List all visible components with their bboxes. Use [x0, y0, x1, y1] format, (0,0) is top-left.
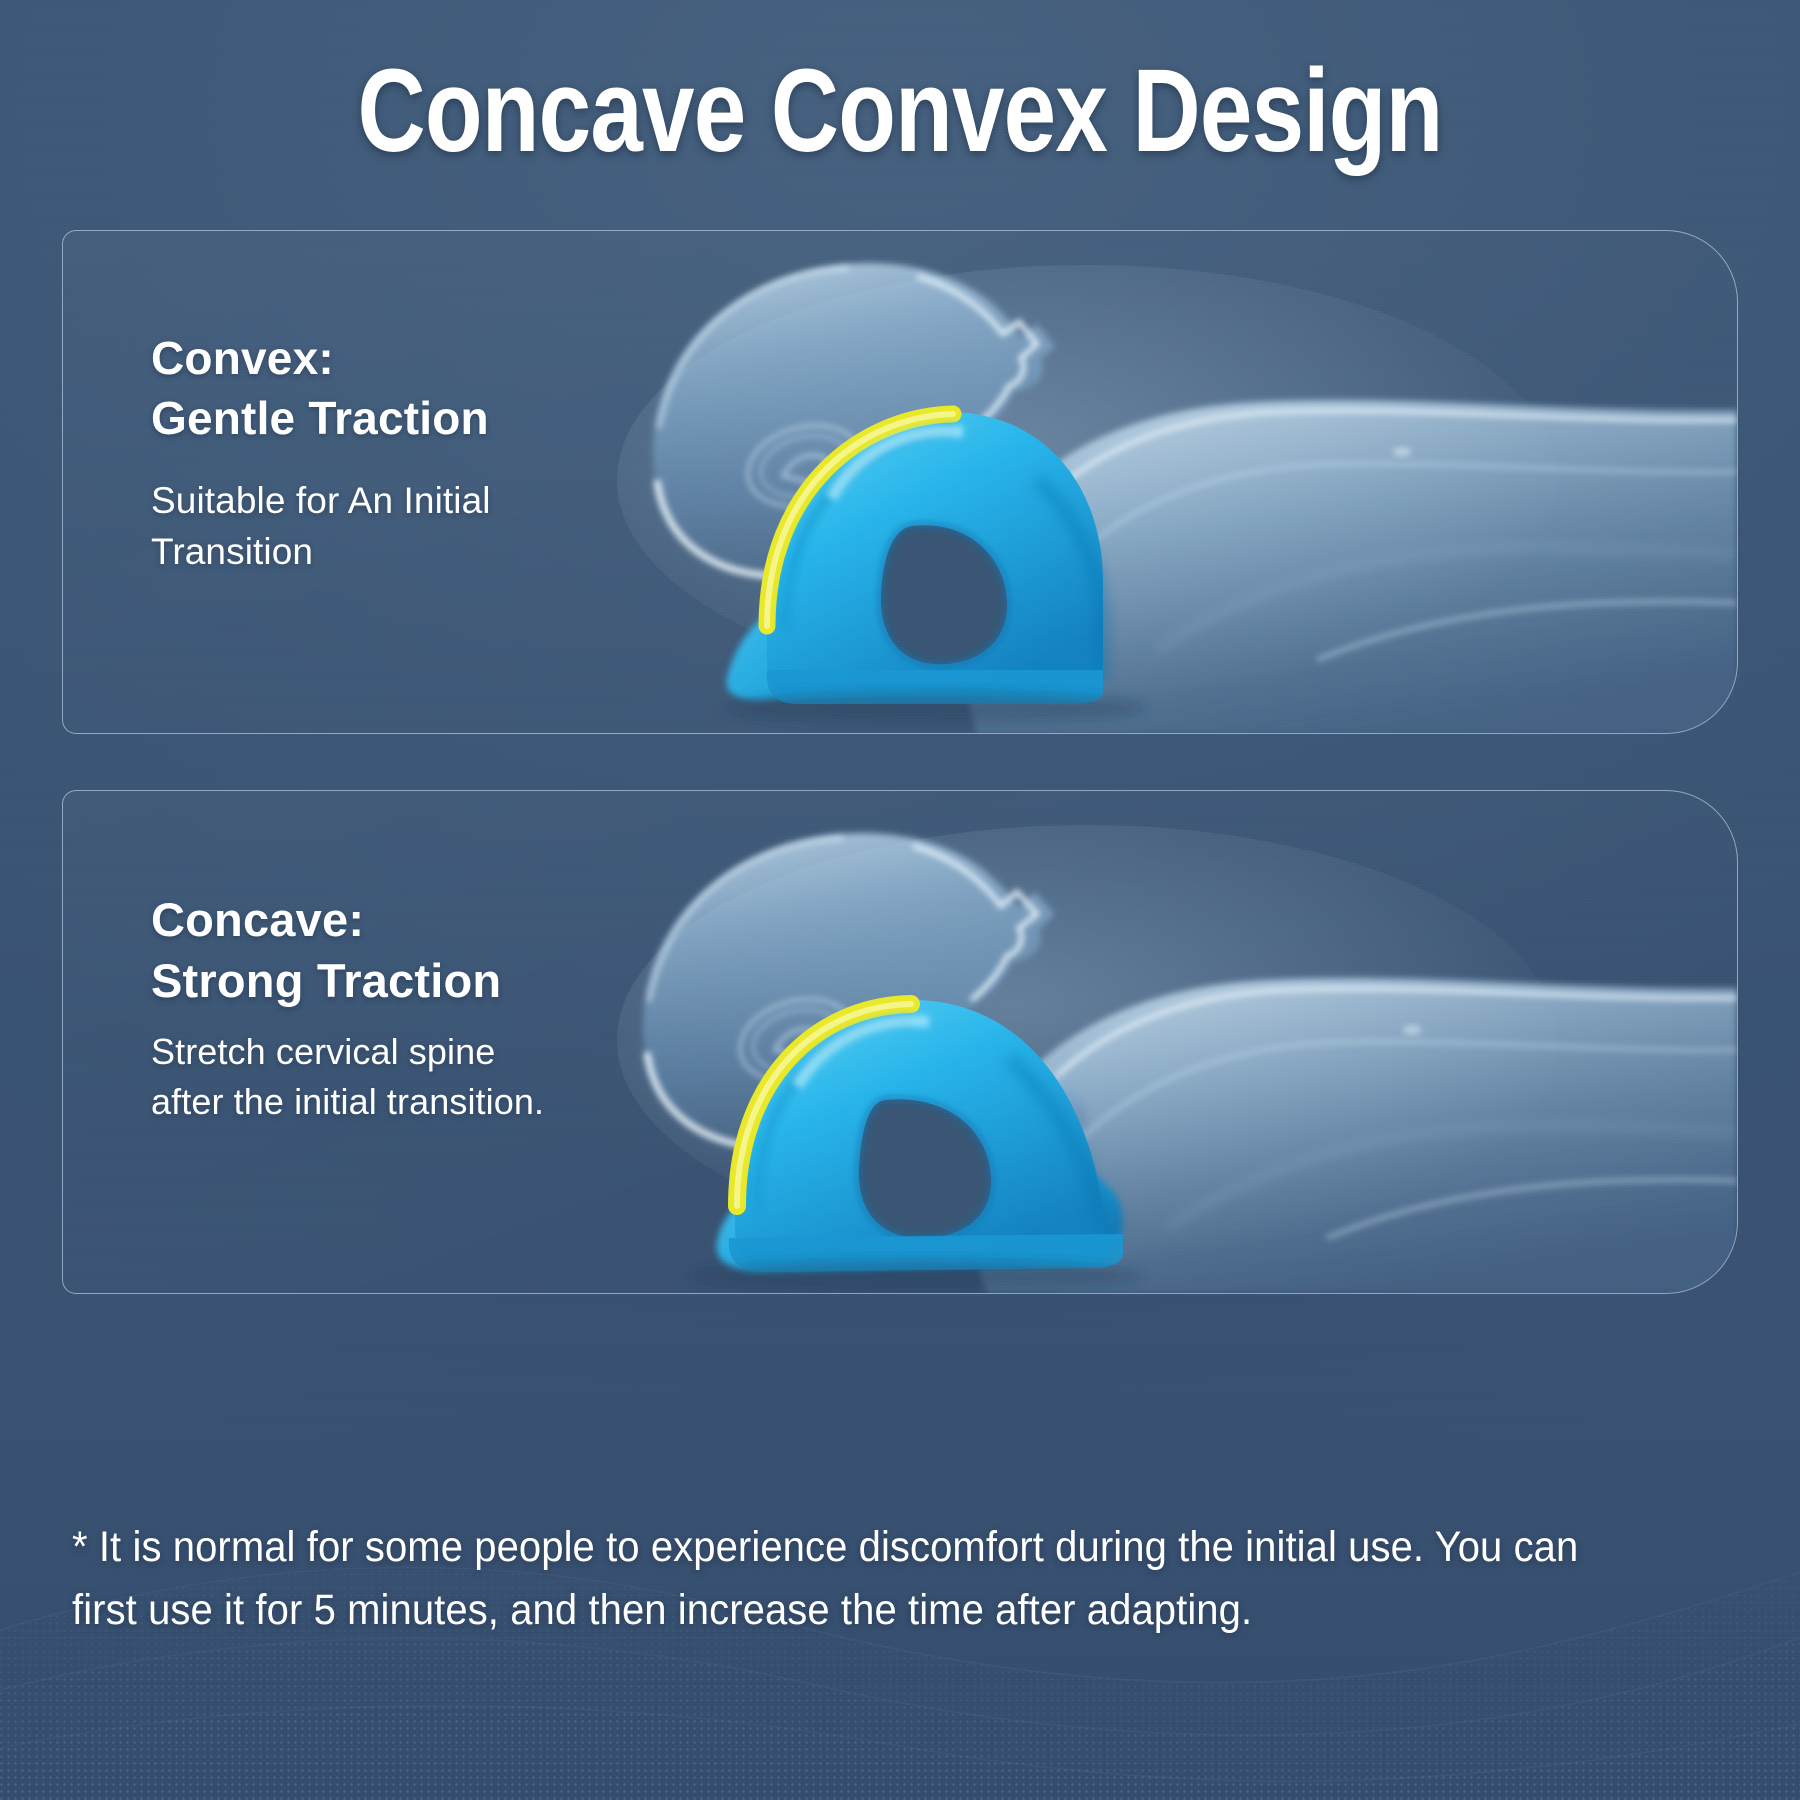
card-convex-text: Convex: Gentle Traction Suitable for An … — [151, 329, 711, 577]
illustration-convex — [617, 231, 1737, 733]
card-convex-body: Suitable for An Initial Transition — [151, 475, 711, 577]
footnote-disclaimer: * It is normal for some people to experi… — [72, 1516, 1625, 1642]
card-convex: Convex: Gentle Traction Suitable for An … — [62, 230, 1738, 734]
card-concave: Concave: Strong Traction Stretch cervica… — [62, 790, 1738, 1294]
card-convex-inner: Convex: Gentle Traction Suitable for An … — [63, 231, 1737, 733]
infographic-page: Concave Convex Design — [0, 0, 1800, 1800]
illustration-concave — [617, 791, 1737, 1293]
card-convex-heading: Convex: Gentle Traction — [151, 329, 711, 449]
card-concave-body: Stretch cervical spine after the initial… — [151, 1027, 711, 1126]
card-concave-inner: Concave: Strong Traction Stretch cervica… — [63, 791, 1737, 1293]
page-title: Concave Convex Design — [180, 48, 1620, 175]
card-concave-heading: Concave: Strong Traction — [151, 889, 711, 1011]
card-concave-text: Concave: Strong Traction Stretch cervica… — [151, 889, 711, 1127]
